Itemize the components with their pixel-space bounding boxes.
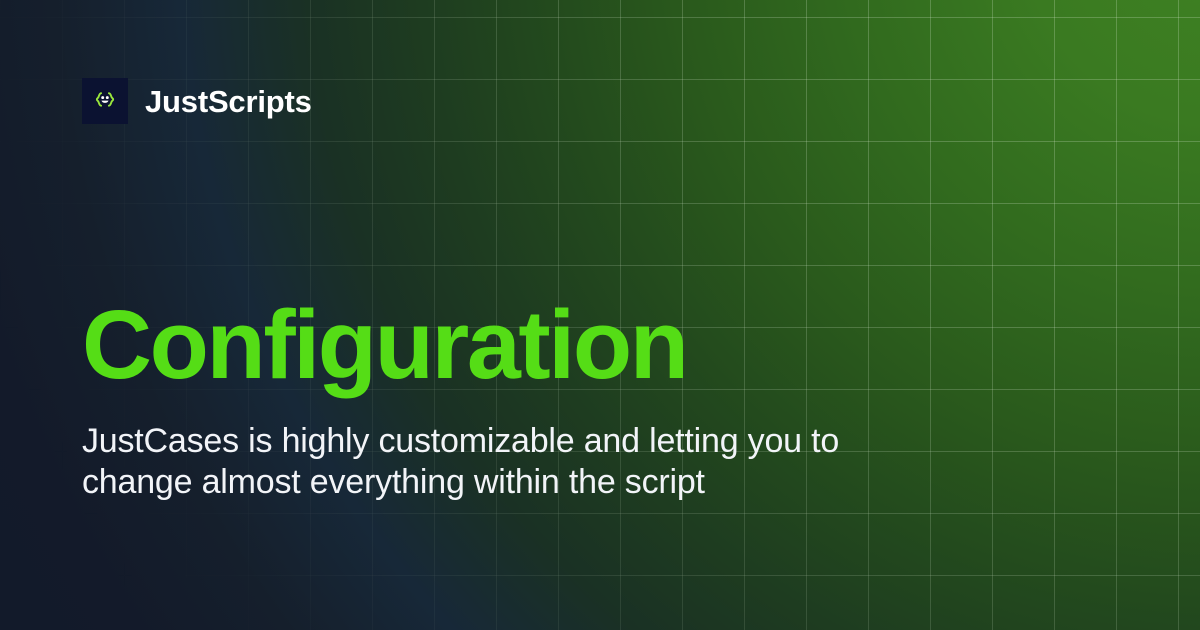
brand-lockup[interactable]: JustScripts xyxy=(82,78,312,124)
card-content: JustScripts Configuration JustCases is h… xyxy=(0,0,1200,630)
brand-name: JustScripts xyxy=(145,86,312,117)
og-card: JustScripts Configuration JustCases is h… xyxy=(0,0,1200,630)
hero-text-block: Configuration JustCases is highly custom… xyxy=(82,296,872,504)
page-title: Configuration xyxy=(82,296,872,395)
page-subtitle: JustCases is highly customizable and let… xyxy=(82,421,847,504)
curly-brace-smiley-face-icon xyxy=(82,78,128,124)
